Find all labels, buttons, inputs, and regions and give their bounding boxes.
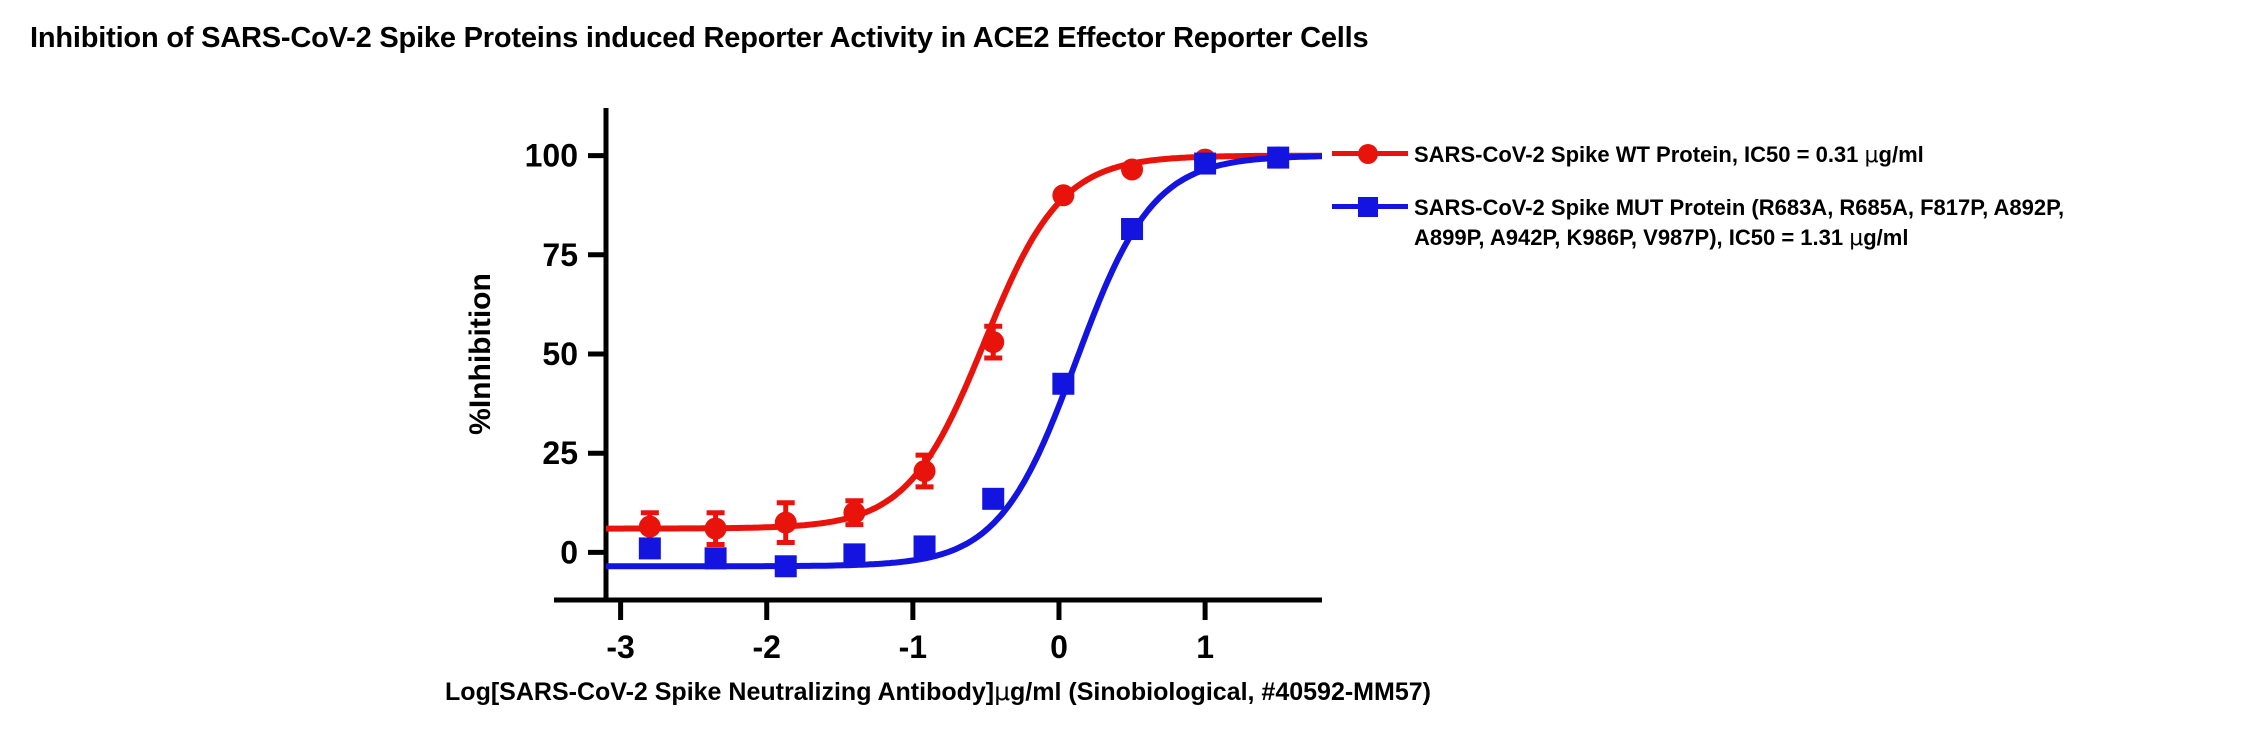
- chart-legend: SARS-CoV-2 Spike WT Protein, IC50 = 0.31…: [1332, 140, 2212, 276]
- legend-marker-circle-marker: [1332, 140, 1414, 166]
- y-axis-ticks: 0255075100: [525, 138, 606, 571]
- data-point-square: [705, 547, 727, 569]
- data-series-layer: [606, 147, 1322, 578]
- x-tick-label: 1: [1196, 629, 1214, 665]
- data-point-square: [982, 488, 1004, 510]
- mu-symbol: μ: [1849, 226, 1863, 251]
- y-tick-label: 100: [525, 138, 578, 174]
- legend-label: SARS-CoV-2 Spike MUT Protein (R683A, R68…: [1414, 193, 2064, 254]
- data-point-square: [1121, 218, 1143, 240]
- data-point-square: [843, 543, 865, 565]
- legend-item[interactable]: SARS-CoV-2 Spike WT Protein, IC50 = 0.31…: [1332, 140, 2212, 171]
- x-axis-ticks: -3-2-101: [606, 600, 1214, 665]
- legend-label: SARS-CoV-2 Spike WT Protein, IC50 = 0.31…: [1414, 140, 1924, 171]
- chart-plot-area: 0255075100 -3-2-101 %Inhibition Log[SARS…: [0, 0, 2244, 750]
- data-point-circle: [982, 331, 1004, 353]
- x-tick-label: -3: [606, 629, 634, 665]
- x-tick-label: -1: [899, 629, 927, 665]
- legend-item[interactable]: SARS-CoV-2 Spike MUT Protein (R683A, R68…: [1332, 193, 2212, 254]
- data-point-square: [914, 535, 936, 557]
- data-point-circle: [1052, 184, 1074, 206]
- data-point-circle: [775, 512, 797, 534]
- y-axis-title: %Inhibition: [464, 273, 497, 435]
- data-point-circle: [705, 518, 727, 540]
- data-point-square: [1194, 153, 1216, 175]
- data-point-circle: [1121, 159, 1143, 181]
- y-tick-label: 25: [542, 435, 578, 471]
- data-point-circle: [639, 516, 661, 538]
- square-marker: [1358, 197, 1378, 217]
- data-point-square: [639, 537, 661, 559]
- y-tick-label: 50: [542, 336, 578, 372]
- x-tick-label: 0: [1050, 629, 1068, 665]
- data-point-square: [1267, 147, 1289, 169]
- mu-symbol: μ: [1865, 143, 1879, 168]
- circle-marker: [1358, 144, 1378, 164]
- y-tick-label: 0: [560, 534, 578, 570]
- series-curve: [606, 156, 1322, 566]
- data-point-square: [775, 555, 797, 577]
- legend-marker-square-marker: [1332, 193, 1414, 219]
- series-curve: [606, 156, 1322, 529]
- chart-svg: 0255075100 -3-2-101 %Inhibition Log[SARS…: [0, 0, 2244, 750]
- data-point-circle: [843, 502, 865, 524]
- data-point-circle: [914, 460, 936, 482]
- data-point-square: [1052, 373, 1074, 395]
- x-axis-title: Log[SARS-CoV-2 Spike Neutralizing Antibo…: [445, 677, 1431, 706]
- x-tick-label: -2: [753, 629, 781, 665]
- y-tick-label: 75: [542, 237, 578, 273]
